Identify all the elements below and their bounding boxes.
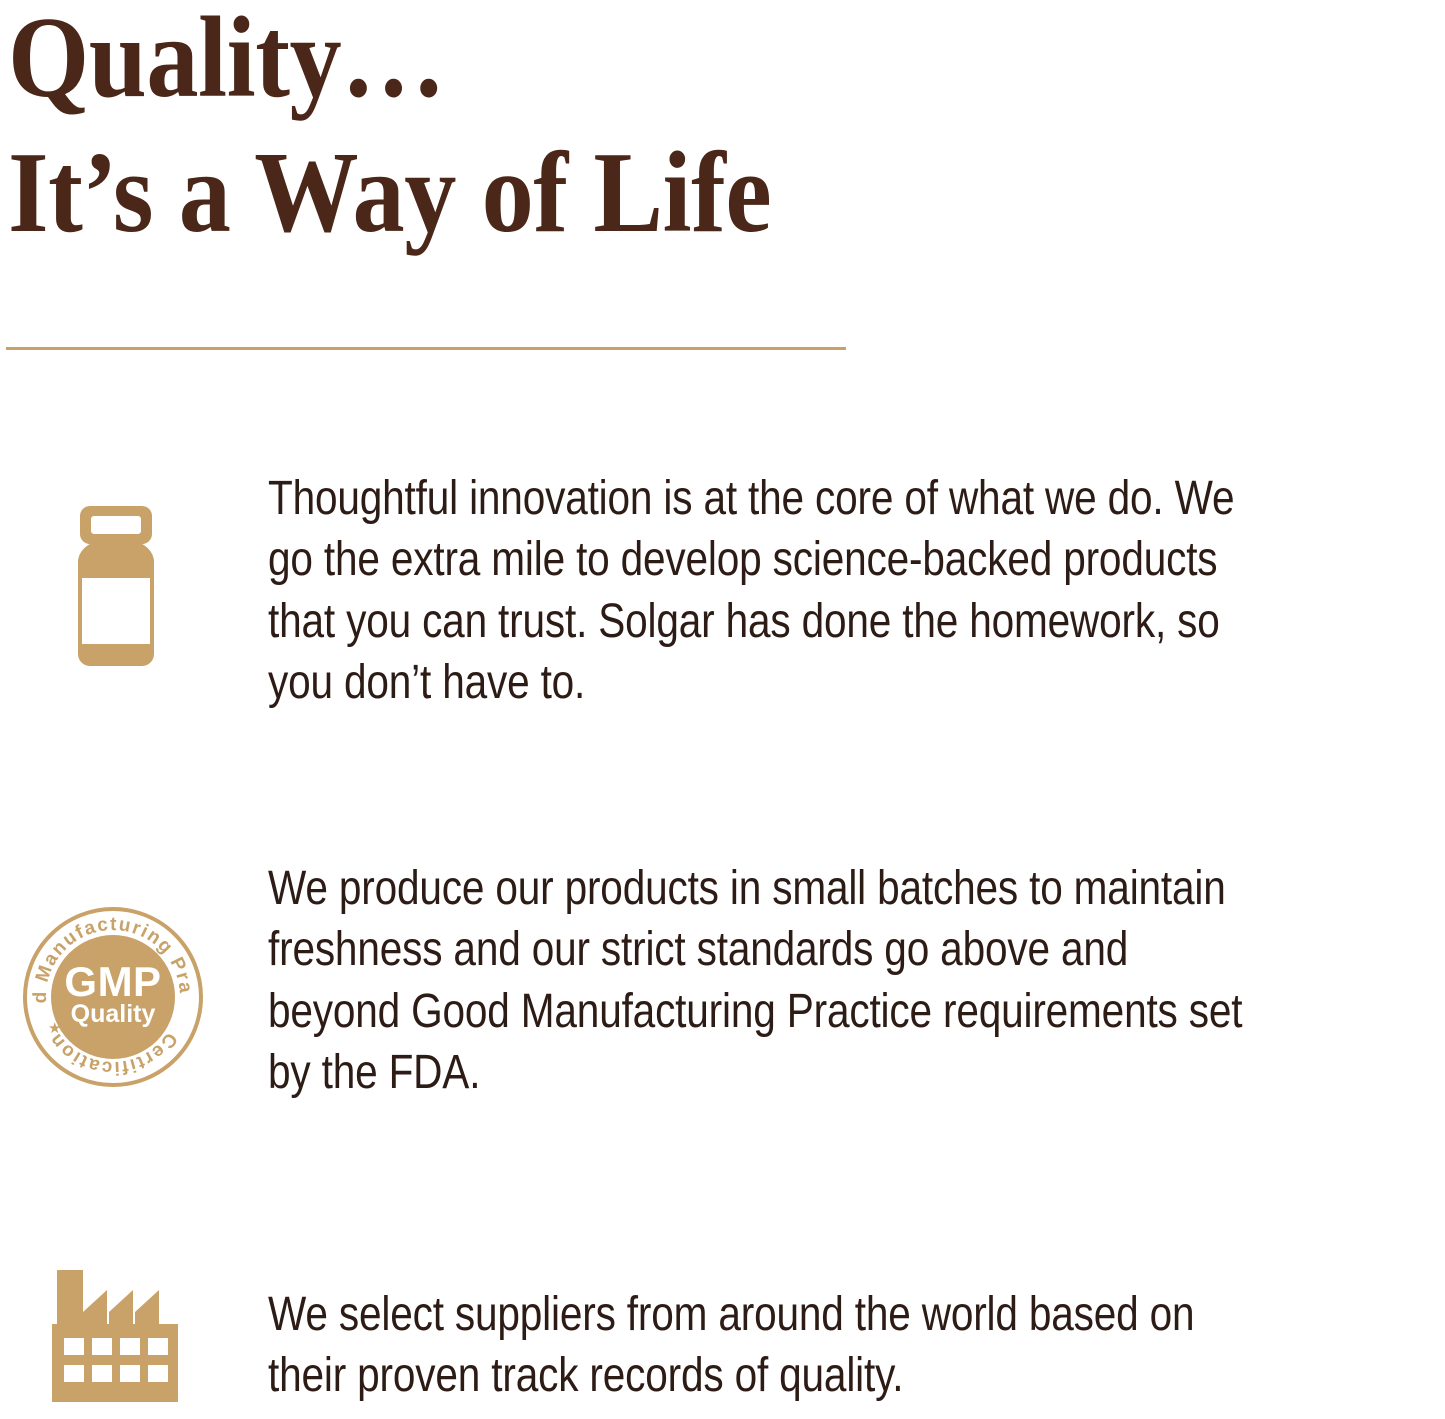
gmp-quality-seal-icon: Good Manufacturing Practice Certificatio… <box>18 902 208 1092</box>
svg-text:★: ★ <box>48 1020 61 1037</box>
supplement-bottle-icon <box>56 502 176 672</box>
feature-icon-cell <box>0 1258 268 1419</box>
feature-text: We select suppliers from around the worl… <box>268 1258 1263 1407</box>
feature-text: Thoughtful innovation is at the core of … <box>268 462 1263 714</box>
feature-text: We produce our products in small batches… <box>268 852 1263 1104</box>
page-title-line-2: It’s a Way of Life <box>8 137 1088 250</box>
page-title: Quality… It’s a Way of Life <box>8 2 1208 249</box>
gold-divider-rule <box>6 347 846 350</box>
feature-row: We select suppliers from around the worl… <box>0 1258 1445 1419</box>
quality-way-of-life-panel: Quality… It’s a Way of Life Thoughtful i… <box>0 0 1445 1419</box>
feature-icon-cell <box>0 462 268 712</box>
feature-icon-cell: Good Manufacturing Practice Certificatio… <box>0 852 268 1102</box>
feature-row: Thoughtful innovation is at the core of … <box>0 462 1445 714</box>
feature-row: Good Manufacturing Practice Certificatio… <box>0 852 1445 1104</box>
page-title-line-1: Quality… <box>8 2 1088 115</box>
factory-icon <box>50 1268 202 1408</box>
